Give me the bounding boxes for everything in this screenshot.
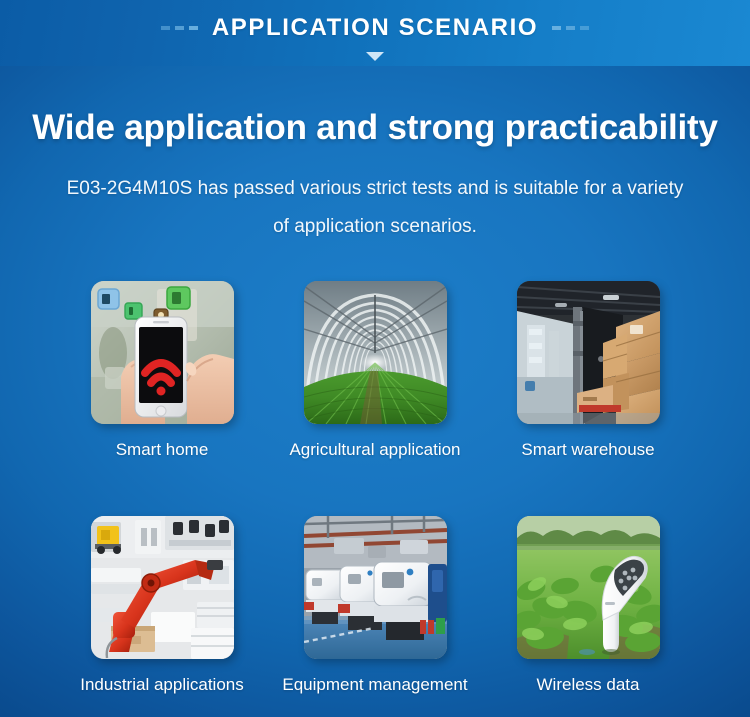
warehouse-photo	[517, 281, 660, 424]
banner-dashes-left-icon	[161, 26, 198, 30]
scenario-label: Equipment management	[277, 675, 473, 695]
scenario-card-industrial-applications[interactable]: Industrial applications	[64, 516, 260, 695]
scenario-label: Industrial applications	[64, 675, 260, 695]
banner-content: APPLICATION SCENARIO	[0, 0, 750, 56]
scenario-label: Agricultural application	[277, 440, 473, 460]
scenario-card-smart-home[interactable]: Smart home	[64, 281, 260, 460]
scenario-card-wireless-data[interactable]: Wireless data	[490, 516, 686, 695]
scenario-grid: Smart home	[64, 281, 686, 695]
page-title: Wide application and strong practicabili…	[0, 108, 750, 148]
robot-arm-photo	[91, 516, 234, 659]
smart-home-photo	[91, 281, 234, 424]
scenario-label: Smart home	[64, 440, 260, 460]
greenhouse-photo	[304, 281, 447, 424]
banner-dashes-right-icon	[552, 26, 589, 30]
scenario-card-equipment-management[interactable]: Equipment management	[277, 516, 473, 695]
scenario-label: Wireless data	[490, 675, 686, 695]
scenario-row-2: Industrial applications	[64, 516, 686, 695]
scenario-label: Smart warehouse	[490, 440, 686, 460]
field-sensor-photo	[517, 516, 660, 659]
application-scenario-page: APPLICATION SCENARIO Wide application an…	[0, 0, 750, 717]
scenario-row-1: Smart home	[64, 281, 686, 460]
section-banner: APPLICATION SCENARIO	[0, 0, 750, 66]
scenario-card-agricultural-application[interactable]: Agricultural application	[277, 281, 473, 460]
chevron-down-icon	[366, 52, 384, 61]
injection-machines-photo	[304, 516, 447, 659]
banner-title: APPLICATION SCENARIO	[212, 14, 538, 42]
page-subtitle: E03-2G4M10S has passed various strict te…	[60, 170, 690, 246]
scenario-card-smart-warehouse[interactable]: Smart warehouse	[490, 281, 686, 460]
